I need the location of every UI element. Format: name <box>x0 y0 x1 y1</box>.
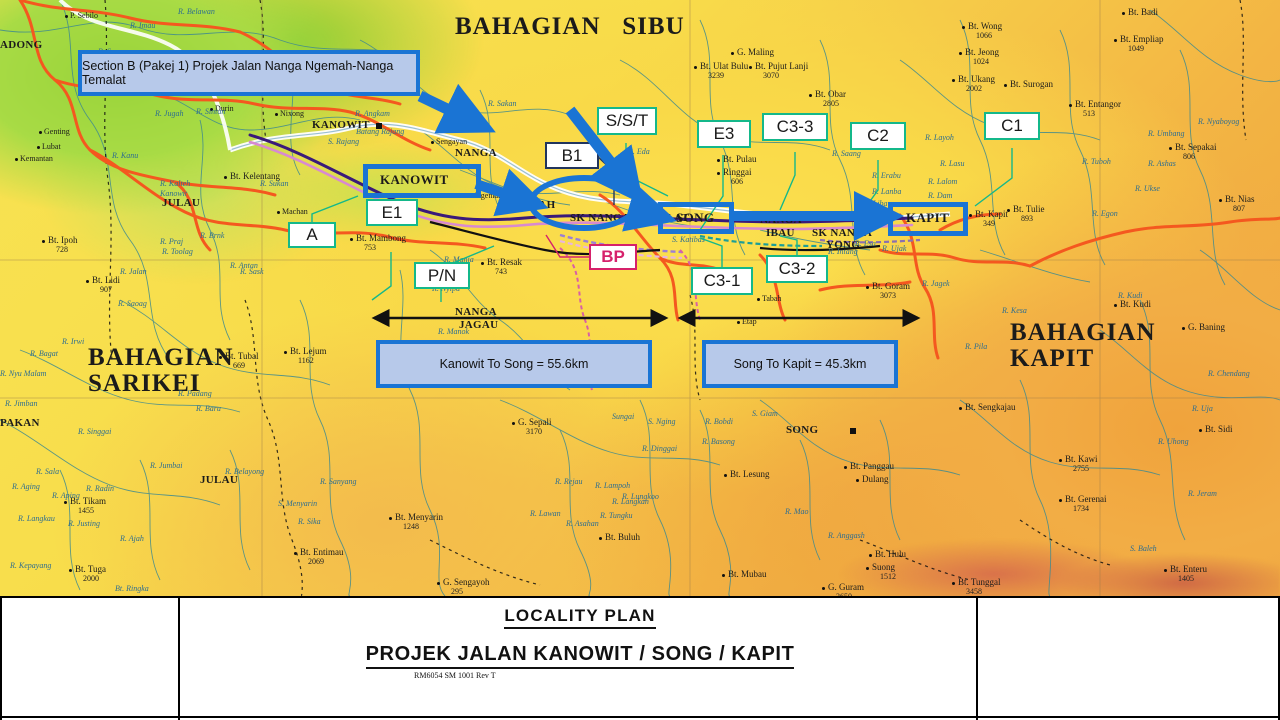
page-title: LOCALITY PLAN <box>504 606 655 629</box>
callout-distance-song-kapit[interactable]: Song To Kapit = 45.3km <box>702 340 898 388</box>
callout-distance-kanowit-song[interactable]: Kanowit To Song = 55.6km <box>376 340 652 388</box>
map-canvas: BAHAGIAN SIBU BAHAGIANSARIKEI BAHAGIANKA… <box>0 0 1280 596</box>
drawing-number: RM6054 SM 1001 Rev T <box>392 671 774 680</box>
callout-section-banner[interactable]: Section B (Pakej 1) Projek Jalan Nanga N… <box>78 50 420 96</box>
locality-plan-page: BAHAGIAN SIBU BAHAGIANSARIKEI BAHAGIANKA… <box>0 0 1280 720</box>
title-block: LOCALITY PLAN PROJEK JALAN KANOWIT / SON… <box>180 606 980 680</box>
title-block-panel: LOCALITY PLAN PROJEK JALAN KANOWIT / SON… <box>0 596 1280 720</box>
panel-bottom-rule <box>0 716 1280 718</box>
panel-edge-left <box>0 598 2 720</box>
project-title: PROJEK JALAN KANOWIT / SONG / KAPIT <box>366 643 795 669</box>
